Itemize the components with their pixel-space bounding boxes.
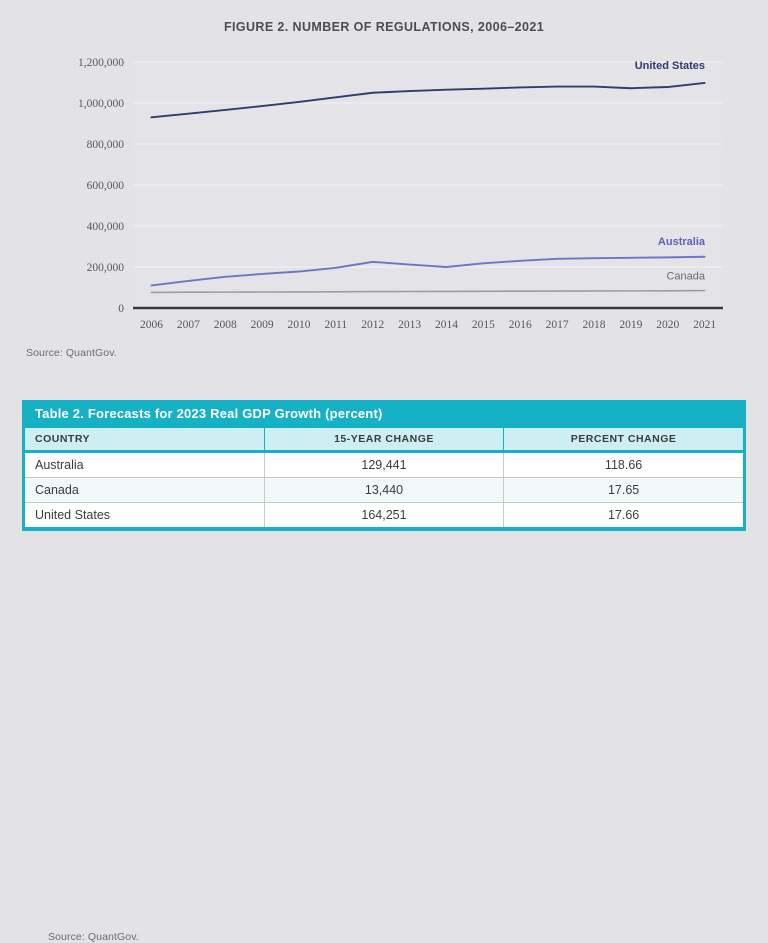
table-column-head: COUNTRY 15-YEAR CHANGE PERCENT CHANGE [25, 428, 743, 452]
cell-15-year-change: 13,440 [264, 478, 503, 503]
x-axis-tick-label: 2018 [582, 319, 605, 331]
table-row: Australia129,441118.66 [25, 452, 743, 478]
chart-x-axis-labels: 2006200720082009201020112012201320142015… [140, 319, 716, 331]
cell-percent-change: 118.66 [504, 452, 743, 478]
y-axis-tick-label: 200,000 [87, 262, 125, 274]
y-axis-tick-label: 0 [118, 303, 124, 315]
table-title-row: Table 2. Forecasts for 2023 Real GDP Gro… [25, 400, 743, 428]
x-axis-tick-label: 2010 [287, 319, 310, 331]
x-axis-tick-label: 2021 [693, 319, 716, 331]
series-label-australia: Australia [658, 236, 706, 248]
cell-percent-change: 17.66 [504, 503, 743, 528]
x-axis-tick-label: 2009 [251, 319, 274, 331]
line-chart: 0200,000400,000600,000800,0001,000,0001,… [0, 48, 768, 338]
y-axis-tick-label: 800,000 [87, 139, 125, 151]
table-title: Table 2. Forecasts for 2023 Real GDP Gro… [25, 400, 743, 428]
column-header-country: COUNTRY [25, 428, 264, 452]
x-axis-tick-label: 2012 [361, 319, 384, 331]
x-axis-tick-label: 2014 [435, 319, 458, 331]
table-title-head: Table 2. Forecasts for 2023 Real GDP Gro… [25, 400, 743, 428]
x-axis-tick-label: 2011 [325, 319, 348, 331]
x-axis-tick-label: 2013 [398, 319, 421, 331]
table-row: Canada13,44017.65 [25, 478, 743, 503]
x-axis-tick-label: 2020 [656, 319, 679, 331]
chart-svg: 0200,000400,000600,000800,0001,000,0001,… [0, 48, 768, 338]
y-axis-tick-label: 1,200,000 [78, 57, 124, 69]
y-axis-tick-label: 600,000 [87, 180, 125, 192]
x-axis-tick-label: 2007 [177, 319, 200, 331]
cell-country: United States [25, 503, 264, 528]
column-header-percent-change: PERCENT CHANGE [504, 428, 743, 452]
table-body: Australia129,441118.66Canada13,44017.65U… [25, 452, 743, 528]
cell-percent-change: 17.65 [504, 478, 743, 503]
series-label-united-states: United States [635, 60, 705, 72]
x-axis-tick-label: 2019 [619, 319, 642, 331]
table-source-note: Source: QuantGov. [48, 931, 139, 943]
cell-15-year-change: 129,441 [264, 452, 503, 478]
table-outline: Table 2. Forecasts for 2023 Real GDP Gro… [22, 400, 746, 531]
cell-country: Canada [25, 478, 264, 503]
series-label-canada: Canada [666, 271, 705, 283]
x-axis-tick-label: 2015 [472, 319, 495, 331]
x-axis-tick-label: 2016 [509, 319, 532, 331]
y-axis-tick-label: 400,000 [87, 221, 125, 233]
forecasts-table: Table 2. Forecasts for 2023 Real GDP Gro… [25, 400, 743, 527]
chart-y-axis-labels: 0200,000400,000600,000800,0001,000,0001,… [78, 57, 124, 315]
x-axis-tick-label: 2008 [214, 319, 237, 331]
table-row: United States164,25117.66 [25, 503, 743, 528]
column-header-15-year-change: 15-YEAR CHANGE [264, 428, 503, 452]
x-axis-tick-label: 2006 [140, 319, 163, 331]
x-axis-tick-label: 2017 [546, 319, 569, 331]
y-axis-tick-label: 1,000,000 [78, 98, 124, 110]
figure-section: FIGURE 2. NUMBER OF REGULATIONS, 2006–20… [0, 0, 768, 378]
figure-title: FIGURE 2. NUMBER OF REGULATIONS, 2006–20… [0, 20, 768, 34]
cell-country: Australia [25, 452, 264, 478]
table-section: Table 2. Forecasts for 2023 Real GDP Gro… [22, 400, 746, 531]
cell-15-year-change: 164,251 [264, 503, 503, 528]
figure-source-note: Source: QuantGov. [26, 347, 117, 359]
table-header-row: COUNTRY 15-YEAR CHANGE PERCENT CHANGE [25, 428, 743, 452]
